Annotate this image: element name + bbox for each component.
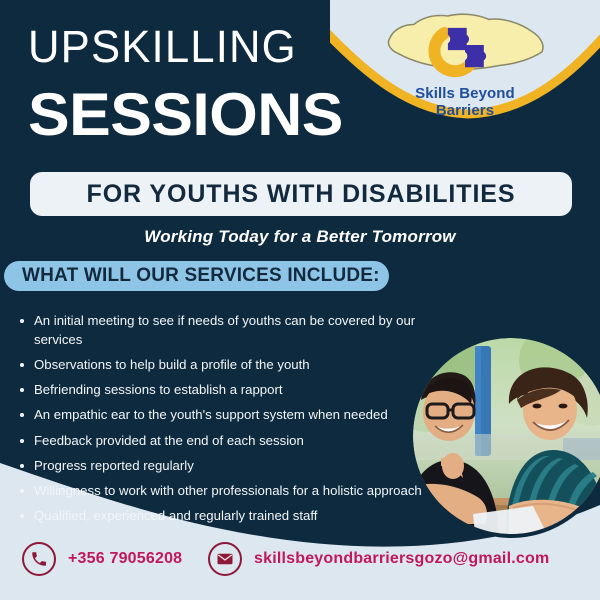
photo-two-youths bbox=[413, 338, 600, 534]
tagline: Working Today for a Better Tomorrow bbox=[0, 227, 600, 247]
email-address: skillsbeyondbarriersgozo@gmail.com bbox=[254, 550, 549, 568]
list-item: Willingness to work with other professio… bbox=[18, 482, 448, 501]
footer-contact-bar: +356 79056208 skillsbeyondbarriersgozo@g… bbox=[0, 530, 600, 600]
list-item: Observations to help build a profile of … bbox=[18, 356, 448, 375]
headline-block: UPSKILLING SESSIONS bbox=[28, 24, 448, 145]
phone-number: +356 79056208 bbox=[68, 550, 182, 568]
headline-upskilling: UPSKILLING bbox=[28, 24, 435, 69]
list-item: An initial meeting to see if needs of yo… bbox=[18, 312, 448, 349]
services-list: An initial meeting to see if needs of yo… bbox=[18, 312, 448, 533]
contact-phone[interactable]: +356 79056208 bbox=[22, 542, 182, 576]
headline-sessions: SESSIONS bbox=[28, 85, 465, 145]
list-item: An empathic ear to the youth's support s… bbox=[18, 406, 448, 425]
subtitle-pill-label: FOR YOUTHS WITH DISABILITIES bbox=[87, 180, 516, 209]
list-item: Qualified, experienced and regularly tra… bbox=[18, 507, 448, 526]
envelope-icon bbox=[208, 542, 242, 576]
phone-icon bbox=[22, 542, 56, 576]
list-item: Befriending sessions to establish a rapp… bbox=[18, 381, 448, 400]
services-band-label: WHAT WILL OUR SERVICES INCLUDE: bbox=[22, 265, 380, 287]
list-item: Progress reported regularly bbox=[18, 457, 448, 476]
subtitle-pill: FOR YOUTHS WITH DISABILITIES bbox=[30, 172, 572, 216]
poster-canvas: Skills Beyond Barriers UPSKILLING SESSIO… bbox=[0, 0, 600, 600]
list-item: Feedback provided at the end of each ses… bbox=[18, 432, 448, 451]
contact-email[interactable]: skillsbeyondbarriersgozo@gmail.com bbox=[208, 542, 549, 576]
services-band: WHAT WILL OUR SERVICES INCLUDE: bbox=[4, 261, 389, 291]
